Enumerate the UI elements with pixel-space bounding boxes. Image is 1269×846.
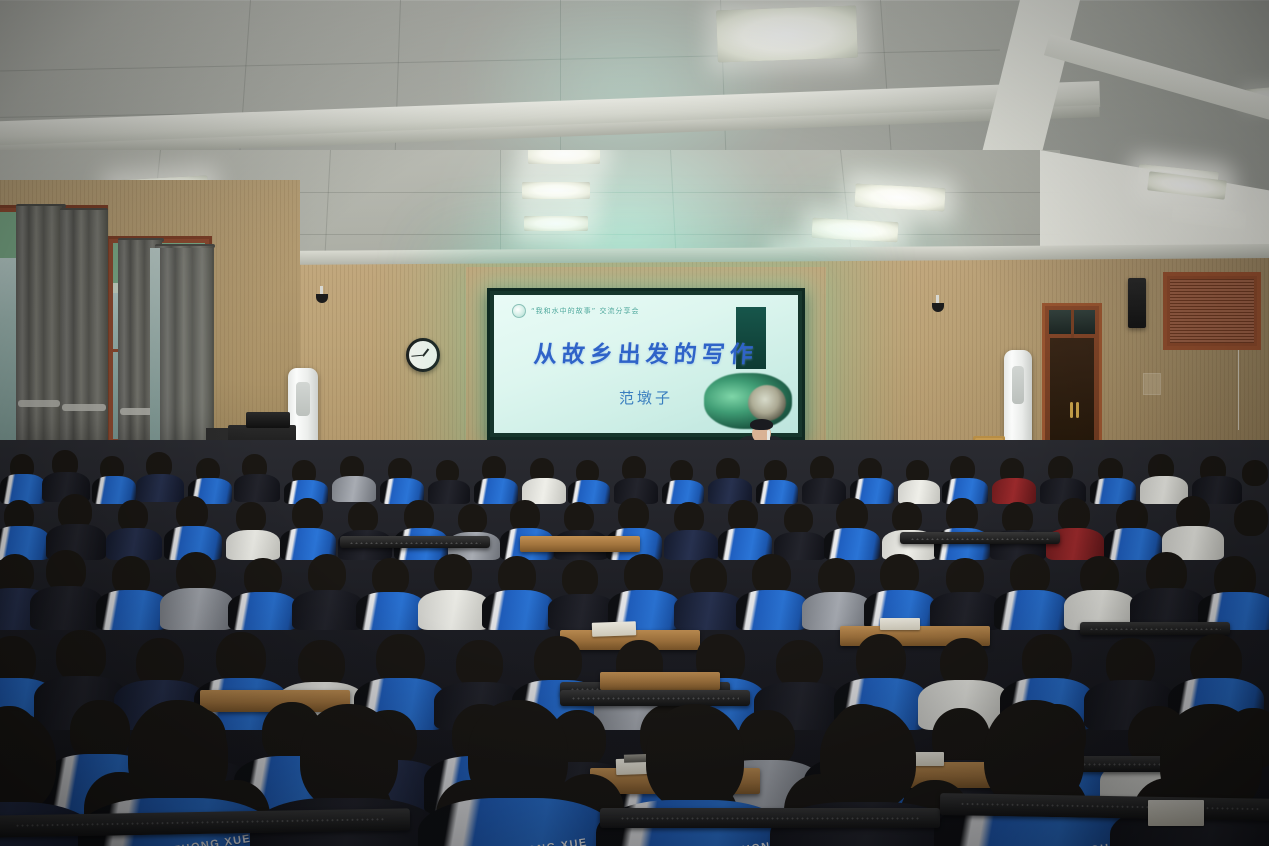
blind-cord[interactable] (1238, 350, 1239, 430)
ceiling-light (854, 184, 945, 212)
slide-title: 从故乡出发的写作 (494, 335, 798, 369)
curtain-left-2[interactable] (60, 210, 108, 468)
audience-area: YON SHOU ZHONG XUE ZHONG XUE U ZHONG XUE (0, 440, 1269, 846)
entry-door[interactable] (1042, 303, 1102, 463)
window-blinds (1163, 272, 1261, 350)
bench-rail (600, 808, 940, 828)
ceiling-light (716, 6, 858, 63)
ceiling-light (524, 216, 588, 231)
slide-surface: “我和水中的故事” 交流分享会 从故乡出发的写作 范墩子 (494, 295, 798, 433)
wall-panel-patch (1143, 373, 1161, 395)
tissue-box (1148, 800, 1204, 826)
door-handle[interactable] (1070, 402, 1073, 418)
wall-speaker (1128, 278, 1146, 328)
presenter-cap (750, 419, 773, 430)
wall-clock (406, 338, 440, 372)
audience-row (0, 540, 1269, 626)
curtain-tie[interactable] (62, 404, 106, 411)
window-blind-slats[interactable] (1170, 279, 1254, 343)
door-handle[interactable] (1076, 402, 1079, 418)
ceiling-light (528, 150, 600, 164)
av-equipment (246, 412, 290, 428)
slide-header: “我和水中的故事” 交流分享会 (512, 304, 639, 318)
curtain-left-1[interactable] (16, 206, 62, 468)
round-emblem-icon (512, 304, 526, 318)
slide-subtitle: “我和水中的故事” 交流分享会 (531, 306, 639, 316)
photo-scene: “我和水中的故事” 交流分享会 从故乡出发的写作 范墩子 范墩子 (0, 0, 1269, 846)
curtain-tie[interactable] (18, 400, 60, 407)
ceiling-light (522, 182, 590, 199)
